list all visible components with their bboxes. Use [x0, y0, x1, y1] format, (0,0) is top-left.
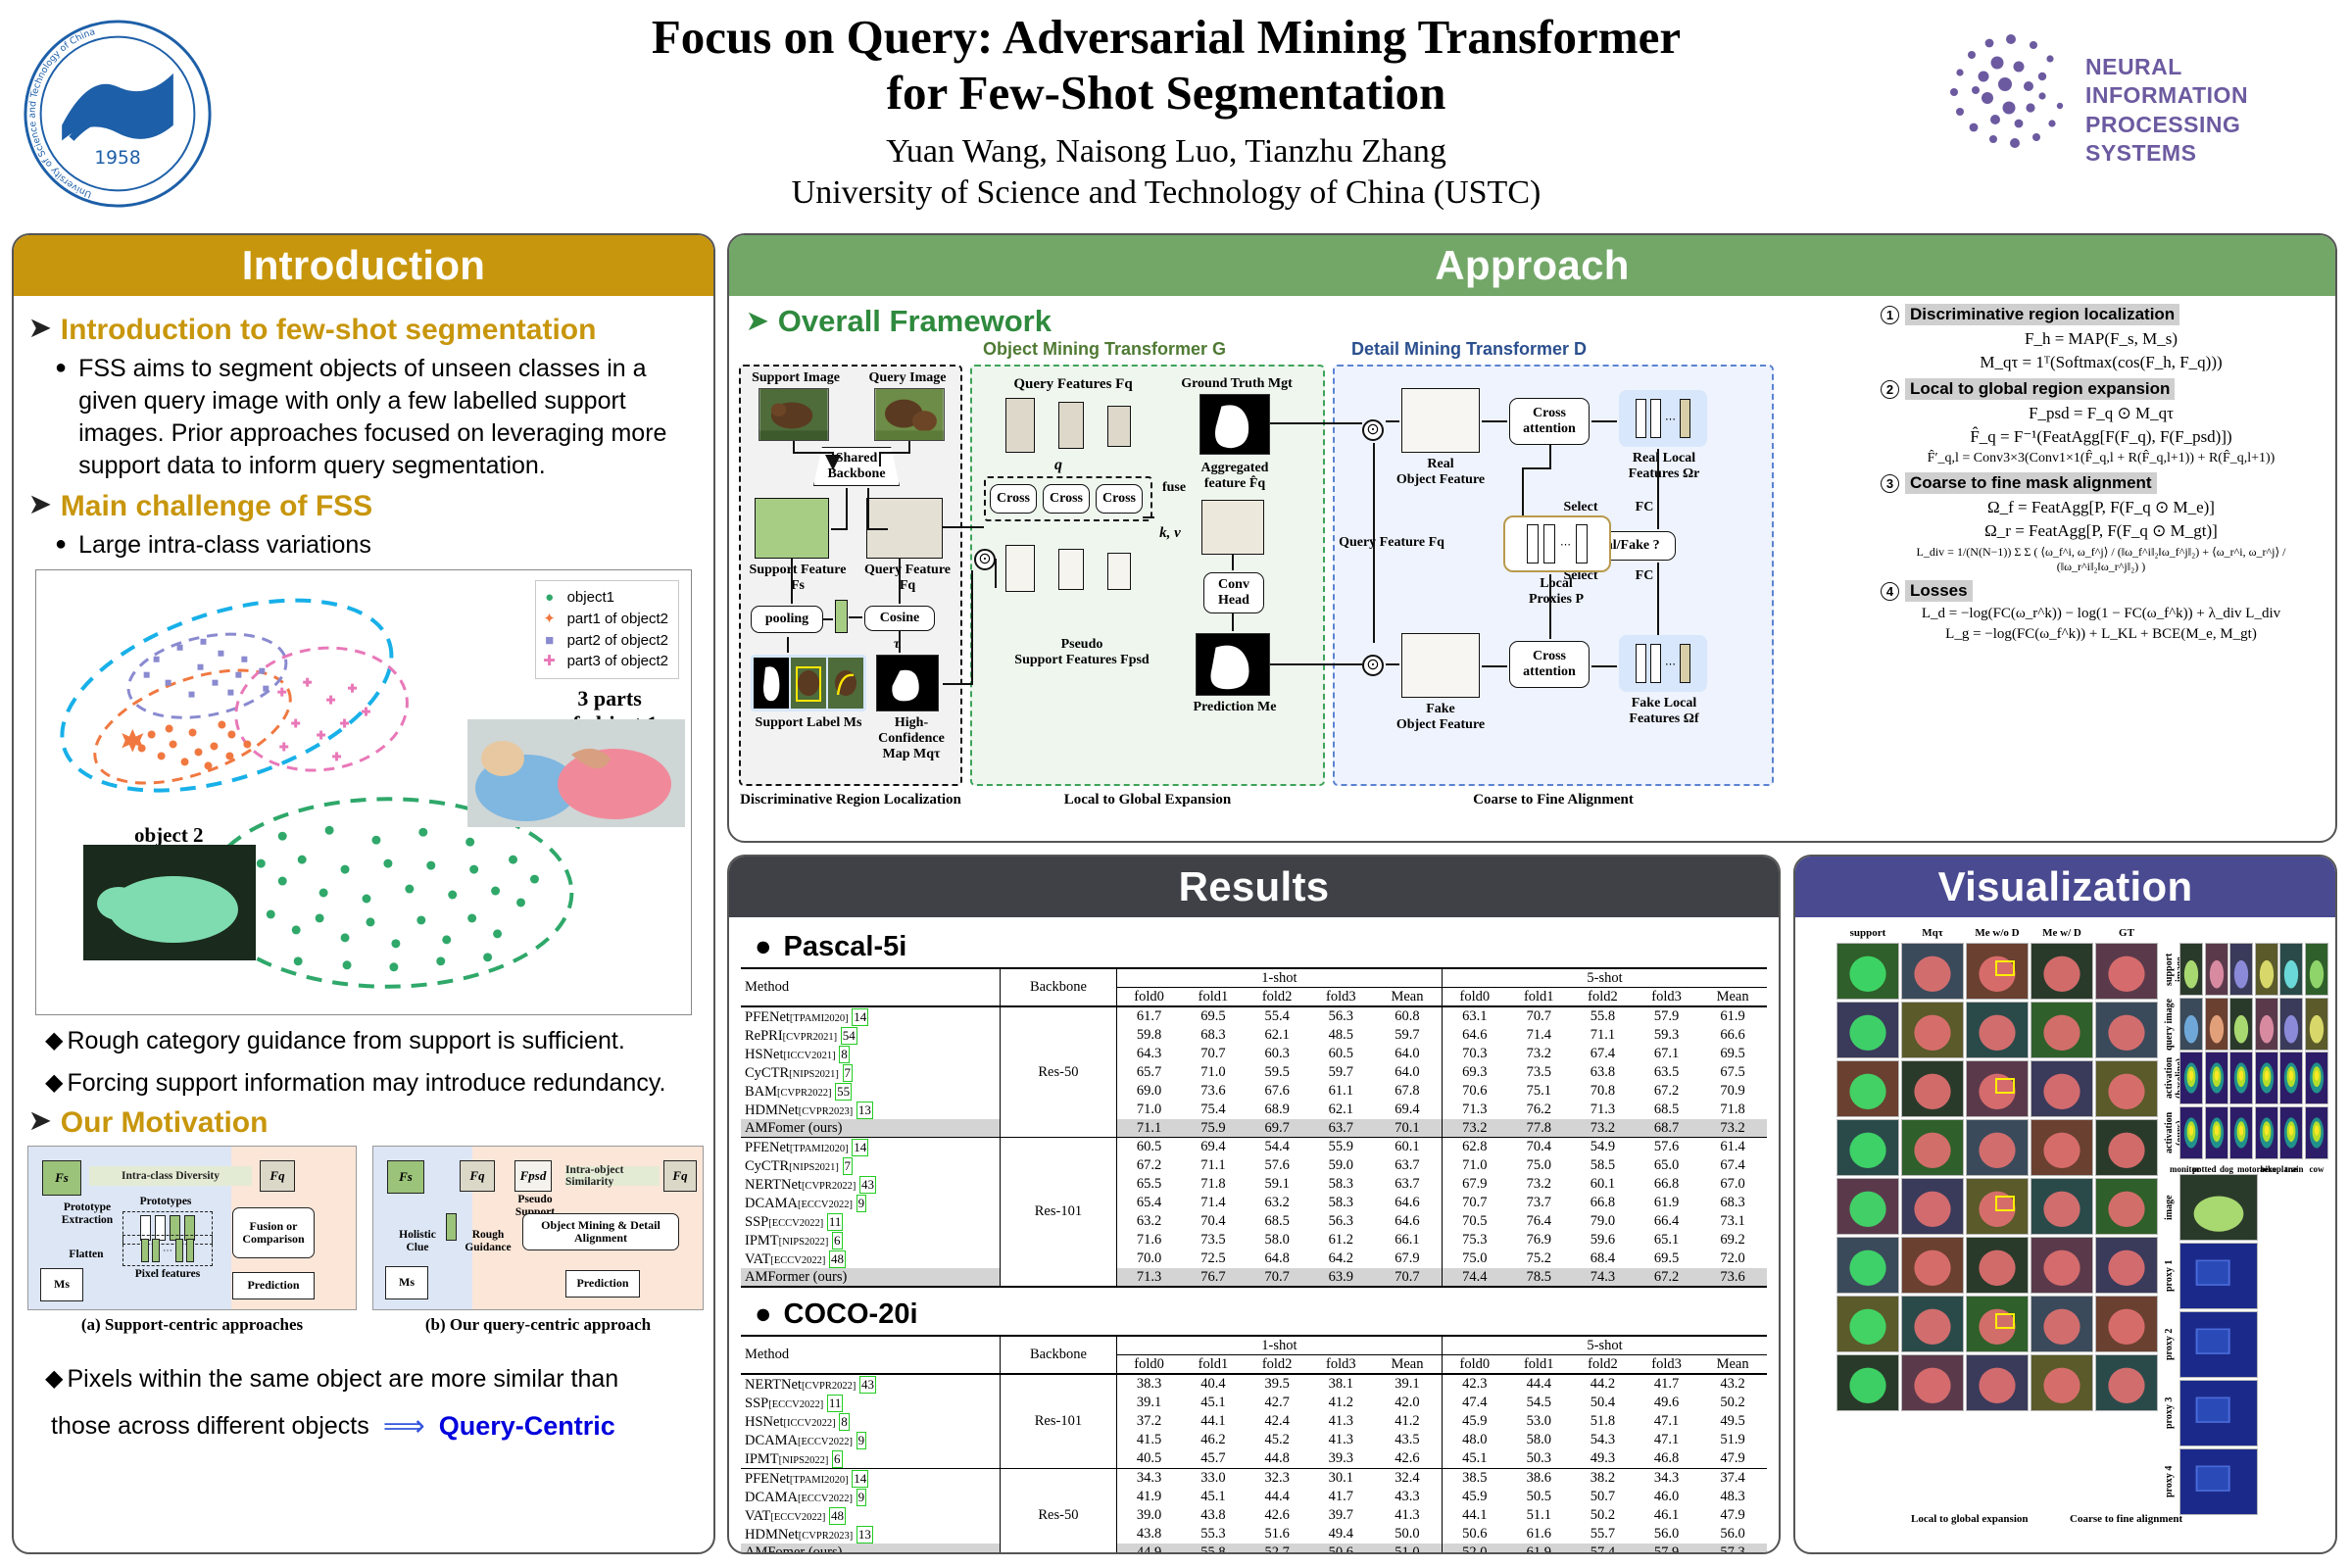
cell-value: 76.4 [1507, 1212, 1571, 1231]
table-row: PFENet[TPAMI2020] 14Res-5061.769.555.456… [741, 1006, 1767, 1026]
cell-method: SSP[ECCV2022] 11 [741, 1394, 1001, 1412]
cell-value: 63.2 [1246, 1194, 1309, 1212]
viz-row-header: proxy 2 [2164, 1311, 2175, 1378]
cell-value: 38.3 [1116, 1374, 1181, 1394]
fc-label-1: FC [1627, 500, 1662, 515]
cross-attention-label-fake: Cross attention [1510, 649, 1589, 679]
legend-label-2: part2 of object2 [567, 630, 668, 652]
eq-4-1: L_d = −log(FC(ω_r^k)) − log(1 − FC(ω_f^k… [1881, 606, 2322, 622]
arrow-right-icon: ➤ [29, 490, 51, 519]
cross-label-1: Cross [997, 491, 1030, 507]
qf-slab-2 [1058, 402, 1084, 449]
pseudo-support-caption: Pseudo Support Features Fpsd [984, 637, 1180, 668]
cell-value: 70.7 [1181, 1045, 1245, 1063]
cell-value: 58.0 [1246, 1231, 1309, 1249]
legend-label-1: part1 of object2 [567, 609, 668, 630]
framework-diagram: Object Mining Transformer G Detail Minin… [739, 343, 1866, 831]
support-feature-cube: Fs [42, 1160, 81, 1196]
cell-method: DCAMA[ECCV2022] 9 [741, 1194, 1001, 1212]
cell-value: 66.8 [1571, 1194, 1635, 1212]
cell-value: 73.6 [1698, 1268, 1767, 1287]
table-row: BAM[CVPR2022] 5569.073.667.661.167.870.6… [741, 1082, 1767, 1101]
cell-value: 69.2 [1698, 1231, 1767, 1249]
viz-row-header: proxy 4 [2164, 1448, 2175, 1515]
legend-item-3: ✚ part3 of object2 [542, 651, 668, 672]
ground-truth-label: Ground Truth Mgt [1168, 376, 1305, 392]
cell-value: 56.3 [1309, 1006, 1373, 1026]
viz-cell [2095, 1237, 2158, 1294]
cell-backbone: Res-101 [1001, 1374, 1117, 1469]
cell-method: IPMT[NIPS2022] 6 [741, 1449, 1001, 1469]
pooling-box: pooling [751, 606, 823, 633]
support-mask-box-left: Ms [40, 1268, 83, 1301]
pixel-features-label: Pixel features [130, 1268, 205, 1281]
cell-method: AMFormer (ours) [741, 1268, 1001, 1287]
col-backbone: Backbone [1001, 1336, 1117, 1374]
viz-cell [2279, 943, 2303, 996]
step-4-number: 4 [1881, 582, 1899, 601]
col-fold-1shot-2: fold2 [1246, 988, 1309, 1007]
prediction-box-right: Prediction [565, 1270, 640, 1298]
real-local-features-group: ⋯ [1619, 390, 1707, 447]
viz-cell [1901, 1060, 1964, 1117]
cell-value: 63.8 [1571, 1063, 1635, 1082]
cell-value: 41.3 [1309, 1431, 1373, 1449]
conv-head-box: Conv Head [1203, 572, 1264, 613]
col-fold-5shot-2: fold2 [1571, 1355, 1635, 1375]
viz-cell [2229, 943, 2253, 996]
fake-object-line1: Fake [1386, 702, 1495, 717]
cell-value: 50.3 [1507, 1449, 1571, 1469]
cell-value: 60.5 [1116, 1138, 1181, 1157]
qf-slab-3 [1107, 406, 1131, 447]
intro-diamond-1-text: Rough category guidance from support is … [67, 1025, 624, 1057]
viz-cell [1901, 1354, 1964, 1411]
cell-value: 50.4 [1571, 1394, 1635, 1412]
cell-value: 45.2 [1246, 1431, 1309, 1449]
neurips-logo: NEURAL INFORMATION PROCESSING SYSTEMS [1940, 29, 2313, 157]
equation-panel: 1 Discriminative region localization F_h… [1881, 298, 2322, 843]
cell-value: 70.7 [1507, 1006, 1571, 1026]
cell-value: 54.5 [1507, 1394, 1571, 1412]
cell-value: 69.4 [1373, 1101, 1443, 1119]
query-feature-d-line: Query Feature Fq [1339, 535, 1444, 551]
cell-value: 75.9 [1181, 1119, 1245, 1138]
viz-col-header: Me w/ D [2031, 927, 2093, 939]
cell-value: 56.3 [1309, 1212, 1373, 1231]
bullet-dot-icon: ● [755, 1298, 772, 1331]
shared-backbone-label: Shared Backbone [814, 451, 899, 481]
cell-value: 69.7 [1246, 1119, 1309, 1138]
cell-value: 41.2 [1373, 1412, 1443, 1431]
cell-value: 41.3 [1309, 1412, 1373, 1431]
results-heading: Results [729, 857, 1779, 917]
viz-error-highlight-box [1995, 1313, 2015, 1329]
cell-value: 64.2 [1309, 1249, 1373, 1268]
cell-value: 64.6 [1443, 1026, 1507, 1045]
cell-value: 49.4 [1309, 1525, 1373, 1543]
cell-value: 38.1 [1309, 1374, 1373, 1394]
viz-cell [1836, 1002, 1899, 1058]
cell-value: 46.1 [1635, 1506, 1698, 1525]
cell-value: 55.7 [1571, 1525, 1635, 1543]
holistic-clue-label: Holistic Clue [395, 1229, 440, 1254]
cell-value: 70.8 [1571, 1082, 1635, 1101]
viz-cell [2095, 1354, 2158, 1411]
intro-final-line-2: those across different objects ⟹ Query-C… [51, 1409, 700, 1444]
viz-class-label: monitor [2170, 1164, 2193, 1174]
table-row: CyCTR[NIPS2021] 767.271.157.659.063.771.… [741, 1156, 1767, 1175]
cell-value: 71.4 [1507, 1026, 1571, 1045]
cell-value: 71.3 [1116, 1268, 1181, 1287]
q-label: q [1049, 457, 1068, 474]
bullet-dot-icon: ● [755, 931, 772, 963]
step-1-number: 1 [1881, 306, 1899, 324]
cell-value: 60.8 [1373, 1006, 1443, 1026]
cell-value: 41.7 [1635, 1374, 1698, 1394]
cell-value: 79.0 [1571, 1212, 1635, 1231]
bullet-dot-icon: ● [55, 529, 67, 562]
cell-value: 62.8 [1443, 1138, 1507, 1157]
cross-attention-box-fake: Cross attention [1509, 641, 1590, 688]
table-row: DCAMA[ECCV2022] 941.945.144.441.743.345.… [741, 1488, 1767, 1506]
cell-value: 70.5 [1443, 1212, 1507, 1231]
cell-value: 61.7 [1116, 1006, 1181, 1026]
query-image-photo [874, 388, 945, 441]
eq-step-4-head: 4 Losses [1881, 580, 2322, 602]
cell-value: 57.4 [1571, 1543, 1635, 1554]
prediction-box-left: Prediction [232, 1272, 315, 1299]
viz-cell [2229, 1106, 2253, 1159]
cell-value: 65.7 [1116, 1063, 1181, 1082]
table-row: HSNet[ICCV2021] 864.370.760.360.564.070.… [741, 1045, 1767, 1063]
intro-bullet-2-text: Large intra-class variations [78, 529, 371, 562]
cell-value: 67.0 [1698, 1175, 1767, 1194]
cell-value: 64.0 [1373, 1045, 1443, 1063]
poster-title-line2: for Few-Shot Segmentation [549, 66, 1784, 122]
cell-value: 67.6 [1246, 1082, 1309, 1101]
tau-label: τ [886, 637, 907, 653]
motivation-right-caption: (b) Our query-centric approach [373, 1315, 703, 1335]
cell-value: 30.1 [1309, 1469, 1373, 1489]
viz-cell [2179, 1311, 2258, 1378]
cell-value: 57.6 [1246, 1156, 1309, 1175]
viz-row-header: image [2164, 1174, 2175, 1241]
cell-value: 54.9 [1571, 1138, 1635, 1157]
col-fold-1shot-4: Mean [1373, 988, 1443, 1007]
cell-value: 78.5 [1507, 1268, 1571, 1287]
cross-label-2: Cross [1050, 491, 1083, 507]
cell-value: 60.1 [1571, 1175, 1635, 1194]
holistic-clue-vector [446, 1213, 457, 1241]
cell-method: CyCTR[NIPS2021] 7 [741, 1156, 1001, 1175]
viz-cell [2031, 1002, 2093, 1058]
viz-col-header: support [1836, 927, 1899, 939]
cell-value: 69.0 [1116, 1082, 1181, 1101]
viz-cell [2255, 998, 2278, 1051]
cell-method: HSNet[ICCV2021] 8 [741, 1045, 1001, 1063]
cell-value: 60.3 [1246, 1045, 1309, 1063]
viz-cell [1966, 1237, 2029, 1294]
cell-value: 46.2 [1181, 1431, 1245, 1449]
query-feature-cube [866, 498, 943, 559]
kv-label: k, v [1150, 525, 1190, 542]
eq-step-3-head: 3 Coarse to fine mask alignment [1881, 472, 2322, 494]
cell-value: 47.1 [1635, 1431, 1698, 1449]
cell-value: 73.7 [1507, 1194, 1571, 1212]
cell-value: 75.4 [1181, 1101, 1245, 1119]
cell-method: RePRI[CVPR2021] 54 [741, 1026, 1001, 1045]
motivation-figure: Fs Fq Intra-class Diversity Prototype Ex… [27, 1146, 704, 1342]
intro-subheading-2: ➤ Main challenge of FSS [29, 490, 700, 523]
query-feature-cube: Fq [260, 1160, 295, 1192]
query-image-label: Query Image [860, 370, 954, 386]
cell-value: 51.6 [1246, 1525, 1309, 1543]
query-feature-cube-r: Fq [460, 1160, 495, 1192]
table-row: VAT[ECCV2022] 4870.072.564.864.267.975.0… [741, 1249, 1767, 1268]
viz-error-highlight-box [1995, 960, 2015, 976]
cell-value: 58.3 [1309, 1175, 1373, 1194]
legend-marker-plus-icon: ✚ [542, 651, 558, 672]
table-row: PFENet[TPAMI2020] 14Res-10160.569.454.45… [741, 1138, 1767, 1157]
cell-value: 71.1 [1571, 1026, 1635, 1045]
cell-value: 61.9 [1698, 1006, 1767, 1026]
cell-value: 69.5 [1635, 1249, 1698, 1268]
cell-value: 50.2 [1571, 1506, 1635, 1525]
cell-value: 47.1 [1635, 1412, 1698, 1431]
intra-class-diversity-banner: Intra-class Diversity [89, 1166, 252, 1186]
cell-value: 41.9 [1116, 1488, 1181, 1506]
legend-item-0: ● object1 [542, 587, 668, 609]
legend-marker-star-icon: ✦ [542, 609, 558, 630]
cell-value: 44.4 [1246, 1488, 1309, 1506]
viz-cell [2205, 1052, 2228, 1104]
cross-box-1: Cross [990, 484, 1037, 514]
rough-guidance-label: Rough Guidance [460, 1229, 516, 1254]
cell-method: PFENet[TPAMI2020] 14 [741, 1006, 1001, 1026]
cell-value: 75.2 [1507, 1249, 1571, 1268]
cell-value: 71.4 [1181, 1194, 1245, 1212]
col-fold-1shot-0: fold0 [1116, 988, 1181, 1007]
cell-value: 45.9 [1443, 1488, 1507, 1506]
conv-head-label: Conv Head [1204, 577, 1263, 608]
cell-value: 43.2 [1698, 1374, 1767, 1394]
cell-value: 45.1 [1181, 1488, 1245, 1506]
cell-value: 71.3 [1571, 1101, 1635, 1119]
coco-title-row: ● COCO-20i [755, 1298, 1767, 1331]
title-block: Focus on Query: Adversarial Mining Trans… [549, 10, 1784, 212]
cell-value: 68.3 [1181, 1026, 1245, 1045]
cell-value: 69.5 [1181, 1006, 1245, 1026]
viz-cell [2095, 1296, 2158, 1352]
neurips-line-2: PROCESSING SYSTEMS [2085, 111, 2313, 169]
intro-sub3-label: Our Motivation [61, 1106, 269, 1140]
cell-value: 54.4 [1246, 1138, 1309, 1157]
intra-object-similarity-banner: Intra-object Similarity [565, 1166, 660, 1186]
col-fold-5shot-3: fold3 [1635, 988, 1698, 1007]
poster-title-line1: Focus on Query: Adversarial Mining Trans… [549, 10, 1784, 66]
eq-step-2-head: 2 Local to global region expansion [1881, 378, 2322, 400]
cell-value: 67.4 [1571, 1045, 1635, 1063]
viz-cell [2305, 998, 2328, 1051]
pixel-features-group: ⋯ [122, 1235, 213, 1266]
cell-value: 38.6 [1507, 1469, 1571, 1489]
cell-value: 61.9 [1635, 1194, 1698, 1212]
aggregated-feature-cube [1201, 500, 1264, 555]
viz-cell [2031, 1060, 2093, 1117]
cell-value: 57.6 [1635, 1138, 1698, 1157]
coco-results-table: MethodBackbone1-shot5-shotfold0fold1fold… [741, 1335, 1767, 1554]
cell-value: 46.0 [1635, 1488, 1698, 1506]
cell-value: 67.5 [1698, 1063, 1767, 1082]
support-centric-diagram: Fs Fq Intra-class Diversity Prototype Ex… [27, 1146, 357, 1310]
visualization-heading: Visualization [1795, 857, 2335, 917]
cell-value: 32.4 [1373, 1469, 1443, 1489]
intro-diamond-2: ◆ Forcing support information may introd… [45, 1067, 700, 1100]
arrow-implies-icon: ⟹ [383, 1409, 425, 1444]
local-proxies-group: ⋯ [1503, 515, 1611, 572]
footer-coarse-fine: Coarse to Fine Alignment [1333, 792, 1774, 808]
table-row: HDMNet[CVPR2023] 1371.075.468.962.169.47… [741, 1101, 1767, 1119]
cell-value: 44.2 [1571, 1374, 1635, 1394]
svg-text:1958: 1958 [94, 148, 140, 169]
cell-method: VAT[ECCV2022] 48 [741, 1249, 1001, 1268]
cell-value: 39.3 [1309, 1449, 1373, 1469]
viz-cell [2179, 1380, 2258, 1446]
cell-method: HSNet[ICCV2022] 8 [741, 1412, 1001, 1431]
cell-value: 64.6 [1373, 1194, 1443, 1212]
cell-value: 37.2 [1116, 1412, 1181, 1431]
cell-value: 70.6 [1443, 1082, 1507, 1101]
cell-value: 67.4 [1698, 1156, 1767, 1175]
cell-method: DCAMA[ECCV2022] 9 [741, 1488, 1001, 1506]
pseudo-support-cube: Fpsd [514, 1160, 552, 1192]
viz-class-label: cow [2305, 1164, 2328, 1174]
pascal-table-title: Pascal-5i [784, 931, 907, 963]
cell-value: 61.1 [1309, 1082, 1373, 1101]
step-2-title: Local to global region expansion [1905, 378, 2175, 400]
cell-value: 39.5 [1246, 1374, 1309, 1394]
viz-class-label: aeroplane [2260, 1164, 2283, 1174]
psd-slab-1 [1005, 545, 1035, 592]
support-contour-thumb [828, 658, 863, 709]
table-row: AMFomer (ours)44.955.852.750.651.052.061… [741, 1543, 1767, 1554]
cell-value: 59.8 [1116, 1026, 1181, 1045]
scatter-annotation-line1: 3 parts [562, 686, 658, 711]
col-method: Method [741, 968, 1001, 1006]
intro-final-text-2: those across different objects [51, 1410, 369, 1443]
cell-value: 69.5 [1698, 1045, 1767, 1063]
table-row: IPMT[NIPS2022] 640.545.744.839.342.645.1… [741, 1449, 1767, 1469]
local-proxies-line2: Proxies P [1505, 592, 1607, 608]
cell-value: 60.1 [1373, 1138, 1443, 1157]
support-feature-label: Support Feature Fs [747, 563, 849, 594]
cell-value: 55.3 [1181, 1525, 1245, 1543]
cell-value: 47.9 [1698, 1449, 1767, 1469]
cell-backbone: Res-50 [1001, 1469, 1117, 1555]
cell-value: 68.5 [1246, 1212, 1309, 1231]
viz-class-label: dog [2215, 1164, 2238, 1174]
table-row: SSP[ECCV2022] 1163.270.468.556.364.670.5… [741, 1212, 1767, 1231]
viz-cell [2255, 1052, 2278, 1104]
arrow-right-icon: ➤ [29, 1106, 51, 1136]
cell-value: 71.0 [1181, 1063, 1245, 1082]
viz-cell [2095, 943, 2158, 1000]
cell-value: 71.6 [1116, 1231, 1181, 1249]
prediction-caption: Prediction Me [1190, 700, 1280, 715]
cell-value: 39.1 [1373, 1374, 1443, 1394]
cell-value: 68.3 [1698, 1194, 1767, 1212]
object-mining-detail-alignment-box: Object Mining & Detail Alignment [522, 1213, 679, 1250]
ustc-logo: 1958 University of Science and Technolog… [22, 18, 214, 210]
high-conf-line2: Map Mqτ [868, 747, 954, 762]
cell-value: 67.2 [1635, 1082, 1698, 1101]
cell-value: 63.5 [1635, 1063, 1698, 1082]
cell-value: 49.5 [1698, 1412, 1767, 1431]
cell-value: 52.7 [1246, 1543, 1309, 1554]
viz-cell [1836, 1354, 1899, 1411]
viz-cell [2205, 943, 2228, 996]
cell-value: 42.0 [1373, 1394, 1443, 1412]
cell-value: 50.6 [1443, 1525, 1507, 1543]
cell-value: 45.1 [1181, 1394, 1245, 1412]
viz-error-highlight-box [1995, 1196, 2015, 1211]
real-object-line1: Real [1386, 457, 1495, 472]
cell-value: 51.1 [1507, 1506, 1571, 1525]
viz-cell [2205, 1106, 2228, 1159]
table-row: HSNet[ICCV2022] 837.244.142.441.341.245.… [741, 1412, 1767, 1431]
object-mining-transformer-title: Object Mining Transformer G [972, 339, 1237, 360]
cell-value: 73.5 [1181, 1231, 1245, 1249]
viz-cell [2279, 1106, 2303, 1159]
visualization-body: supportMqτMe w/o DMe w/ DGT support imag… [1795, 917, 2335, 1552]
elementwise-multiply-icon-3: ⊙ [1362, 655, 1384, 676]
aggregated-feature-caption: Aggregated feature F̂q [1182, 461, 1288, 492]
fake-local-line1: Fake Local [1613, 696, 1715, 711]
cell-value: 59.1 [1246, 1175, 1309, 1194]
real-object-line2: Object Feature [1386, 472, 1495, 488]
col-fold-1shot-4: Mean [1373, 1355, 1443, 1375]
support-bbox-thumb [791, 658, 826, 709]
cell-value: 67.9 [1373, 1249, 1443, 1268]
cell-value: 66.1 [1373, 1231, 1443, 1249]
cell-value: 70.9 [1698, 1082, 1767, 1101]
cell-value: 63.2 [1116, 1212, 1181, 1231]
viz-cell [1966, 1119, 2029, 1176]
qf-slab-1 [1005, 398, 1035, 453]
real-local-line2: Features Ωr [1613, 466, 1715, 482]
step-1-title: Discriminative region localization [1905, 304, 2179, 325]
cell-value: 59.7 [1373, 1026, 1443, 1045]
viz-cell [2095, 1002, 2158, 1058]
cell-value: 73.5 [1507, 1063, 1571, 1082]
bullet-dot-icon: ● [55, 353, 67, 482]
cell-value: 50.2 [1698, 1394, 1767, 1412]
viz-class-label: train [2282, 1164, 2306, 1174]
table-row: AMFomer (ours)71.175.969.763.770.173.277… [741, 1119, 1767, 1138]
high-conf-line1: High-Confidence [868, 715, 954, 747]
visualization-panel: Visualization supportMqτMe w/o DMe w/ DG… [1793, 855, 2337, 1554]
viz-cell [1836, 1237, 1899, 1294]
cross-box-2: Cross [1043, 484, 1090, 514]
cell-value: 58.0 [1507, 1431, 1571, 1449]
prototype-extraction-label: Prototype Extraction [58, 1201, 117, 1227]
cell-value: 55.4 [1246, 1006, 1309, 1026]
cell-value: 48.5 [1309, 1026, 1373, 1045]
cell-method: HDMNet[CVPR2023] 13 [741, 1525, 1001, 1543]
cell-value: 47.9 [1698, 1506, 1767, 1525]
cell-value: 43.3 [1373, 1488, 1443, 1506]
